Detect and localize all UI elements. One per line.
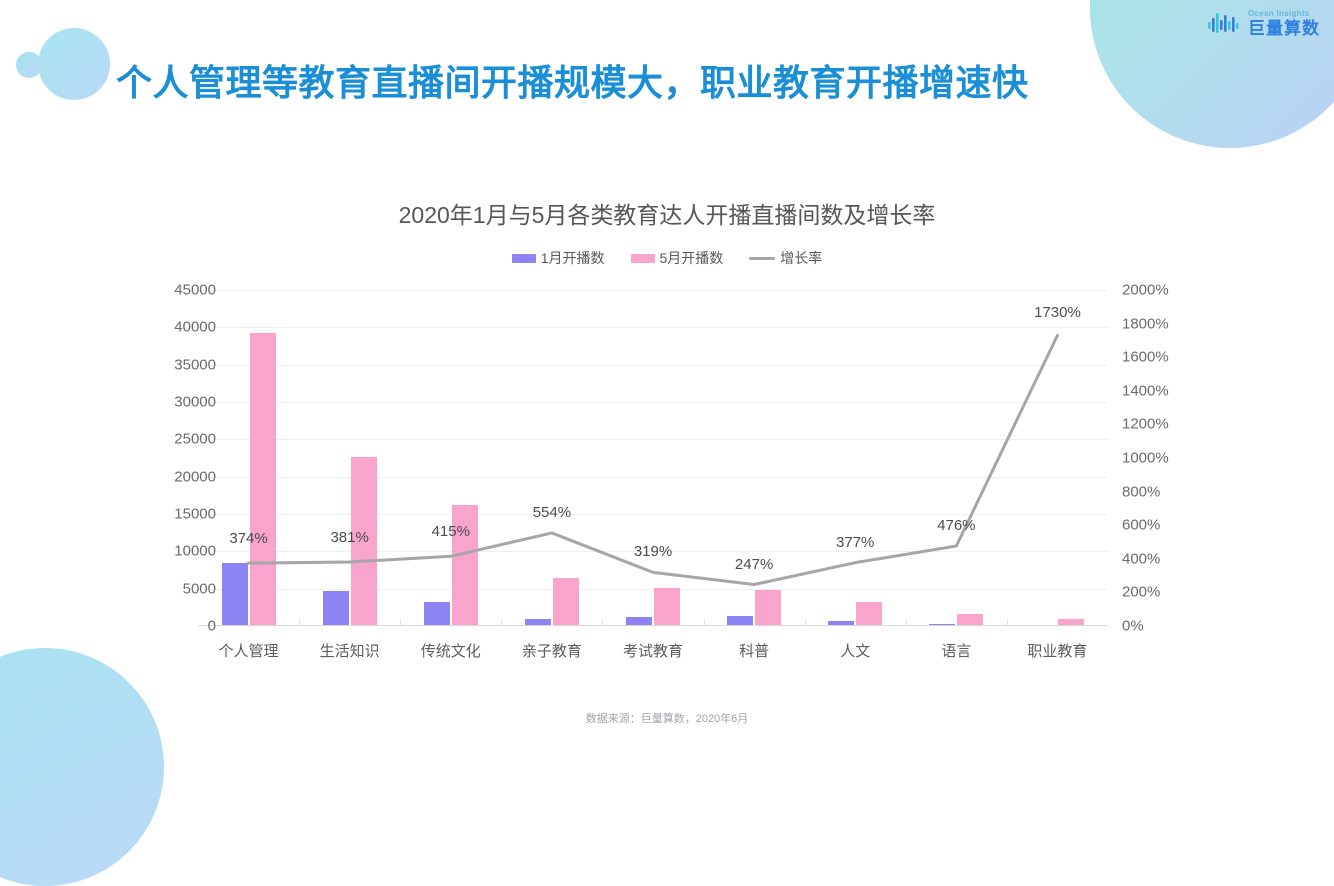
y-axis-left-tick-label: 0 bbox=[208, 618, 216, 635]
x-axis-category-label: 生活知识 bbox=[320, 640, 380, 661]
legend-item-jan[interactable]: 1月开播数 bbox=[512, 248, 605, 268]
y-axis-left-tick-label: 45000 bbox=[174, 282, 216, 299]
legend-label-jan: 1月开播数 bbox=[541, 248, 605, 268]
growth-rate-data-label: 374% bbox=[229, 530, 267, 547]
chart-plot-area bbox=[198, 290, 1108, 626]
decorative-circle-top-left-large bbox=[38, 28, 110, 100]
growth-rate-data-label: 377% bbox=[836, 534, 874, 551]
x-axis-category-label: 科普 bbox=[739, 640, 769, 661]
x-axis-category-label: 职业教育 bbox=[1027, 640, 1087, 661]
y-axis-right-tick-label: 2000% bbox=[1122, 282, 1169, 299]
growth-rate-line bbox=[198, 290, 1108, 626]
growth-rate-data-label: 476% bbox=[937, 517, 975, 534]
y-axis-left-tick-label: 15000 bbox=[174, 506, 216, 523]
growth-rate-data-label: 319% bbox=[634, 543, 672, 560]
x-axis-category-label: 人文 bbox=[840, 640, 870, 661]
legend-item-growth[interactable]: 增长率 bbox=[749, 248, 822, 268]
brand-logo-name: 巨量算数 bbox=[1248, 20, 1320, 37]
y-axis-right-tick-label: 600% bbox=[1122, 517, 1160, 534]
brand-logo: Ocean Insights 巨量算数 bbox=[1207, 10, 1320, 37]
y-axis-left-tick-label: 35000 bbox=[174, 356, 216, 373]
x-axis-category-label: 个人管理 bbox=[219, 640, 279, 661]
x-axis-category-label: 传统文化 bbox=[421, 640, 481, 661]
legend-item-may[interactable]: 5月开播数 bbox=[631, 248, 724, 268]
y-axis-right-tick-label: 1800% bbox=[1122, 315, 1169, 332]
chart-legend: 1月开播数 5月开播数 增长率 bbox=[0, 248, 1334, 268]
page-title: 个人管理等教育直播间开播规模大，职业教育开播增速快 bbox=[116, 60, 1076, 106]
growth-rate-data-label: 1730% bbox=[1034, 304, 1081, 321]
y-axis-right-tick-label: 1000% bbox=[1122, 450, 1169, 467]
y-axis-right-tick-label: 1400% bbox=[1122, 382, 1169, 399]
y-axis-right-tick-label: 1200% bbox=[1122, 416, 1169, 433]
growth-rate-data-label: 554% bbox=[533, 504, 571, 521]
y-axis-left-tick-label: 25000 bbox=[174, 431, 216, 448]
bar-wave-icon bbox=[1207, 11, 1241, 37]
decorative-circle-top-left-small bbox=[16, 52, 42, 78]
y-axis-right-tick-label: 0% bbox=[1122, 618, 1144, 635]
y-axis-right-tick-label: 800% bbox=[1122, 483, 1160, 500]
y-axis-right-tick-label: 200% bbox=[1122, 584, 1160, 601]
x-axis-category-label: 考试教育 bbox=[623, 640, 683, 661]
y-axis-left-tick-label: 5000 bbox=[183, 580, 216, 597]
y-axis-left-tick-label: 40000 bbox=[174, 319, 216, 336]
y-axis-left-tick-label: 10000 bbox=[174, 543, 216, 560]
legend-label-growth: 增长率 bbox=[780, 248, 822, 268]
y-axis-right-tick-label: 400% bbox=[1122, 550, 1160, 567]
legend-line-growth bbox=[749, 257, 775, 260]
growth-rate-data-label: 415% bbox=[432, 523, 470, 540]
legend-swatch-jan bbox=[512, 254, 536, 263]
y-axis-right-tick-label: 1600% bbox=[1122, 349, 1169, 366]
legend-label-may: 5月开播数 bbox=[660, 248, 724, 268]
decorative-circle-bottom-left bbox=[0, 648, 164, 886]
growth-rate-data-label: 381% bbox=[330, 529, 368, 546]
chart-title: 2020年1月与5月各类教育达人开播直播间数及增长率 bbox=[0, 196, 1334, 230]
legend-swatch-may bbox=[631, 254, 655, 263]
chart-source-note: 数据来源：巨量算数，2020年6月 bbox=[0, 710, 1334, 726]
y-axis-left-tick-label: 30000 bbox=[174, 394, 216, 411]
brand-logo-subtitle: Ocean Insights bbox=[1248, 10, 1320, 18]
y-axis-left-tick-label: 20000 bbox=[174, 468, 216, 485]
growth-rate-data-label: 247% bbox=[735, 556, 773, 573]
x-axis-category-label: 亲子教育 bbox=[522, 640, 582, 661]
x-axis-category-label: 语言 bbox=[941, 640, 971, 661]
